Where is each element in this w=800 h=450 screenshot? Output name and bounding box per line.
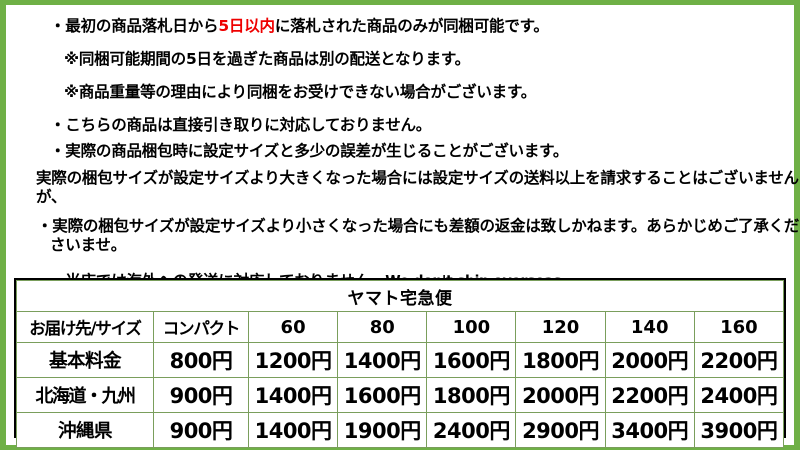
notice-line-1-highlight: 5日以内 <box>218 17 275 35</box>
price-okinawa-140: 3400円 <box>605 413 694 448</box>
table-row: 基本料金 800円 1200円 1400円 1600円 1800円 2000円 … <box>17 343 784 378</box>
column-header-destination-size: お届け先/サイズ <box>17 312 154 343</box>
table-row: 沖縄県 900円 1400円 1900円 2400円 2900円 3400円 3… <box>17 413 784 448</box>
panel-inner: ・最初の商品落札日から5日以内に落札された商品のみが同梱可能です。 ※同梱可能期… <box>6 5 794 445</box>
price-hokkaido-80: 1600円 <box>338 378 427 413</box>
row-label-hokkaido-kyushu: 北海道・九州 <box>17 378 154 413</box>
price-hokkaido-140: 2200円 <box>605 378 694 413</box>
column-header-140: 140 <box>605 312 694 343</box>
column-header-compact: コンパクト <box>154 312 249 343</box>
column-header-160: 160 <box>694 312 783 343</box>
notice-line-1-suffix: に落札された商品のみが同梱可能です。 <box>275 17 549 35</box>
column-header-80: 80 <box>338 312 427 343</box>
price-okinawa-80: 1900円 <box>338 413 427 448</box>
price-hokkaido-compact: 900円 <box>154 378 249 413</box>
price-okinawa-60: 1400円 <box>249 413 338 448</box>
notice-line-1-prefix: ・最初の商品落札日から <box>50 17 218 35</box>
carrier-name: ヤマト宅急便 <box>17 281 784 312</box>
price-hokkaido-100: 1800円 <box>427 378 516 413</box>
notice-line-size-variance: ・実際の商品梱包時に設定サイズと多少の誤差が生じることがございます。 <box>50 144 568 160</box>
price-hokkaido-60: 1400円 <box>249 378 338 413</box>
notice-line-combining-deadline: ・最初の商品落札日から5日以内に落札された商品のみが同梱可能です。 <box>50 19 549 35</box>
row-label-okinawa: 沖縄県 <box>17 413 154 448</box>
price-base-100: 1600円 <box>427 343 516 378</box>
price-hokkaido-120: 2000円 <box>516 378 605 413</box>
price-okinawa-100: 2400円 <box>427 413 516 448</box>
row-label-base-rate: 基本料金 <box>17 343 154 378</box>
price-base-compact: 800円 <box>154 343 249 378</box>
table-row: 北海道・九州 900円 1400円 1600円 1800円 2000円 2200… <box>17 378 784 413</box>
price-base-160: 2200円 <box>694 343 783 378</box>
notice-paragraph-smaller-size: ・実際の梱包サイズが設定サイズより小さくなった場合にも差額の返金は致しかねます。… <box>50 217 800 256</box>
price-base-140: 2000円 <box>605 343 694 378</box>
shipping-rate-table-container: ヤマト宅急便 お届け先/サイズ コンパクト 60 80 100 120 140 … <box>14 278 786 438</box>
price-hokkaido-160: 2400円 <box>694 378 783 413</box>
column-header-120: 120 <box>516 312 605 343</box>
price-okinawa-120: 2900円 <box>516 413 605 448</box>
price-base-60: 1200円 <box>249 343 338 378</box>
notice-paragraph-larger-size: 実際の梱包サイズが設定サイズより大きくなった場合には設定サイズの送料以上を請求す… <box>36 169 800 208</box>
table-carrier-row: ヤマト宅急便 <box>17 281 784 312</box>
shipping-info-panel: ・最初の商品落札日から5日以内に落札された商品のみが同梱可能です。 ※同梱可能期… <box>0 0 800 450</box>
shipping-rate-table: ヤマト宅急便 お届け先/サイズ コンパクト 60 80 100 120 140 … <box>16 280 784 448</box>
price-okinawa-160: 3900円 <box>694 413 783 448</box>
notice-line-weight-exception: ※商品重量等の理由により同梱をお受けできない場合がございます。 <box>64 85 536 101</box>
price-base-120: 1800円 <box>516 343 605 378</box>
notice-line-no-pickup: ・こちらの商品は直接引き取りに対応しておりません。 <box>50 118 431 134</box>
column-header-100: 100 <box>427 312 516 343</box>
notice-line-past-deadline: ※同梱可能期間の5日を過ぎた商品は別の配送となります。 <box>64 52 470 68</box>
price-base-80: 1400円 <box>338 343 427 378</box>
price-okinawa-compact: 900円 <box>154 413 249 448</box>
column-header-60: 60 <box>249 312 338 343</box>
table-header-row: お届け先/サイズ コンパクト 60 80 100 120 140 160 <box>17 312 784 343</box>
